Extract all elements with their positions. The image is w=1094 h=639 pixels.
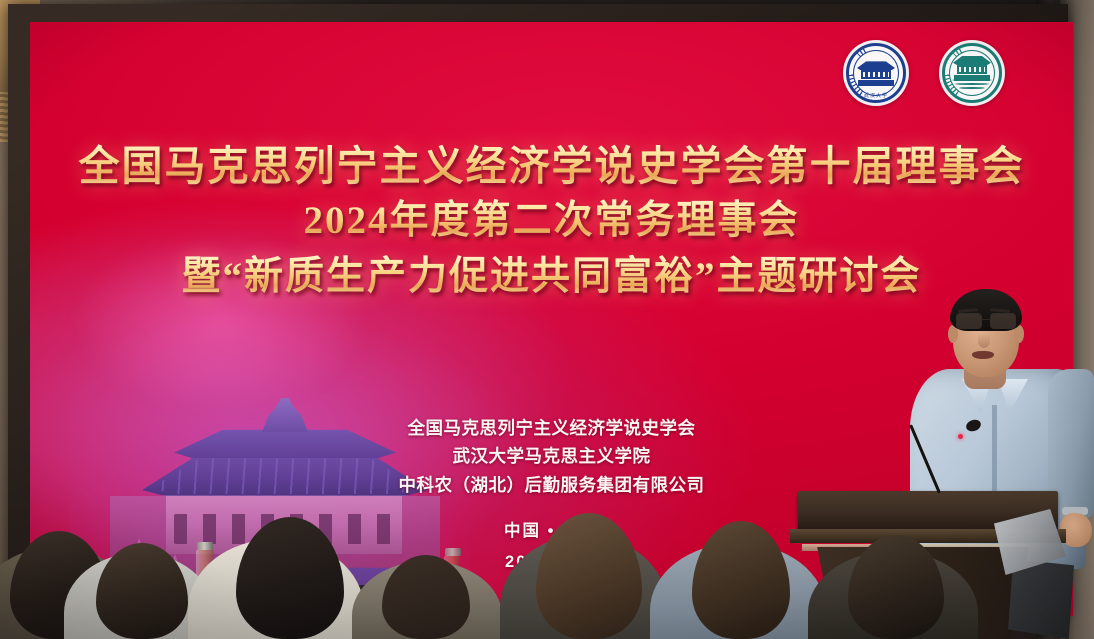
emblem-row: 武汉大学 [843,40,1005,106]
speaker-mouth [972,351,994,359]
speaker-nose [978,334,990,348]
partner-institute-emblem [939,40,1005,106]
attendee-head [236,517,344,639]
attendee-head [692,521,790,639]
glasses-icon [954,313,1018,329]
attendee-head [848,535,944,639]
emblem-wave-lines-icon [952,79,992,91]
emblem-gate-building-icon [857,61,895,87]
wuhan-university-emblem: 武汉大学 [843,40,909,106]
conference-photo: 武汉大学 [0,0,1094,639]
attendee-head [536,513,642,639]
audience-row [0,409,1094,639]
emblem-foot-text: 武汉大学 [864,92,888,99]
